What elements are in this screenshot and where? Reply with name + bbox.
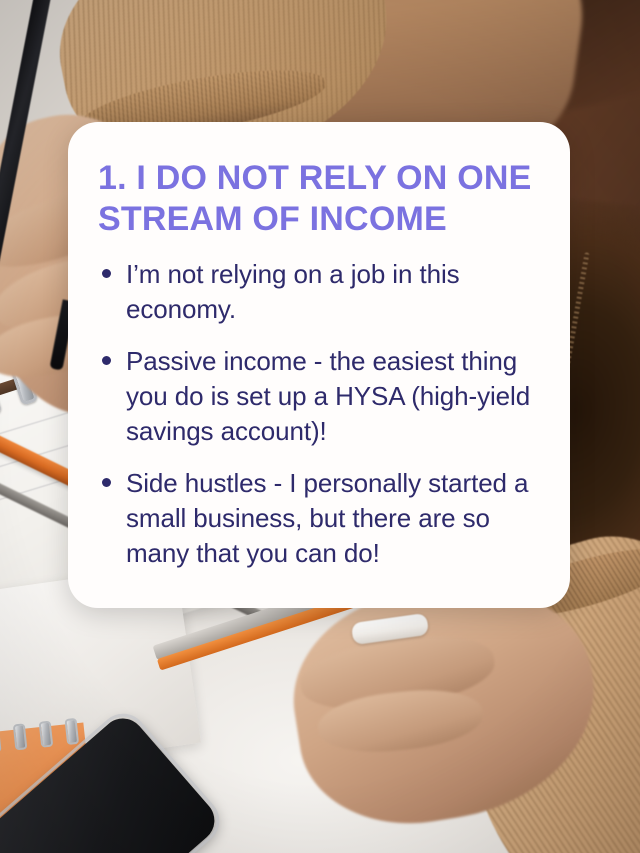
- spiral-ring: [64, 718, 79, 745]
- content-card: 1. I DO NOT RELY ON ONE STREAM OF INCOME…: [68, 122, 570, 608]
- bullet-dot-icon: [102, 356, 111, 365]
- bullet-dot-icon: [102, 478, 111, 487]
- story-slide: 1. I DO NOT RELY ON ONE STREAM OF INCOME…: [0, 0, 640, 853]
- card-title: 1. I DO NOT RELY ON ONE STREAM OF INCOME: [98, 158, 536, 241]
- bullet-list: I’m not relying on a job in this economy…: [98, 257, 536, 572]
- spiral-ring: [0, 726, 2, 753]
- spiral-ring: [39, 721, 54, 748]
- bullet-text: Passive income - the easiest thing you d…: [126, 344, 536, 450]
- bullet-dot-icon: [102, 269, 111, 278]
- bullet-text: I’m not relying on a job in this economy…: [126, 257, 536, 328]
- bullet-item-3: Side hustles - I personally started a sm…: [98, 466, 536, 572]
- bullet-item-2: Passive income - the easiest thing you d…: [98, 344, 536, 450]
- bullet-text: Side hustles - I personally started a sm…: [126, 466, 536, 572]
- bullet-item-1: I’m not relying on a job in this economy…: [98, 257, 536, 328]
- spiral-ring: [0, 374, 2, 417]
- spiral-ring: [13, 723, 28, 750]
